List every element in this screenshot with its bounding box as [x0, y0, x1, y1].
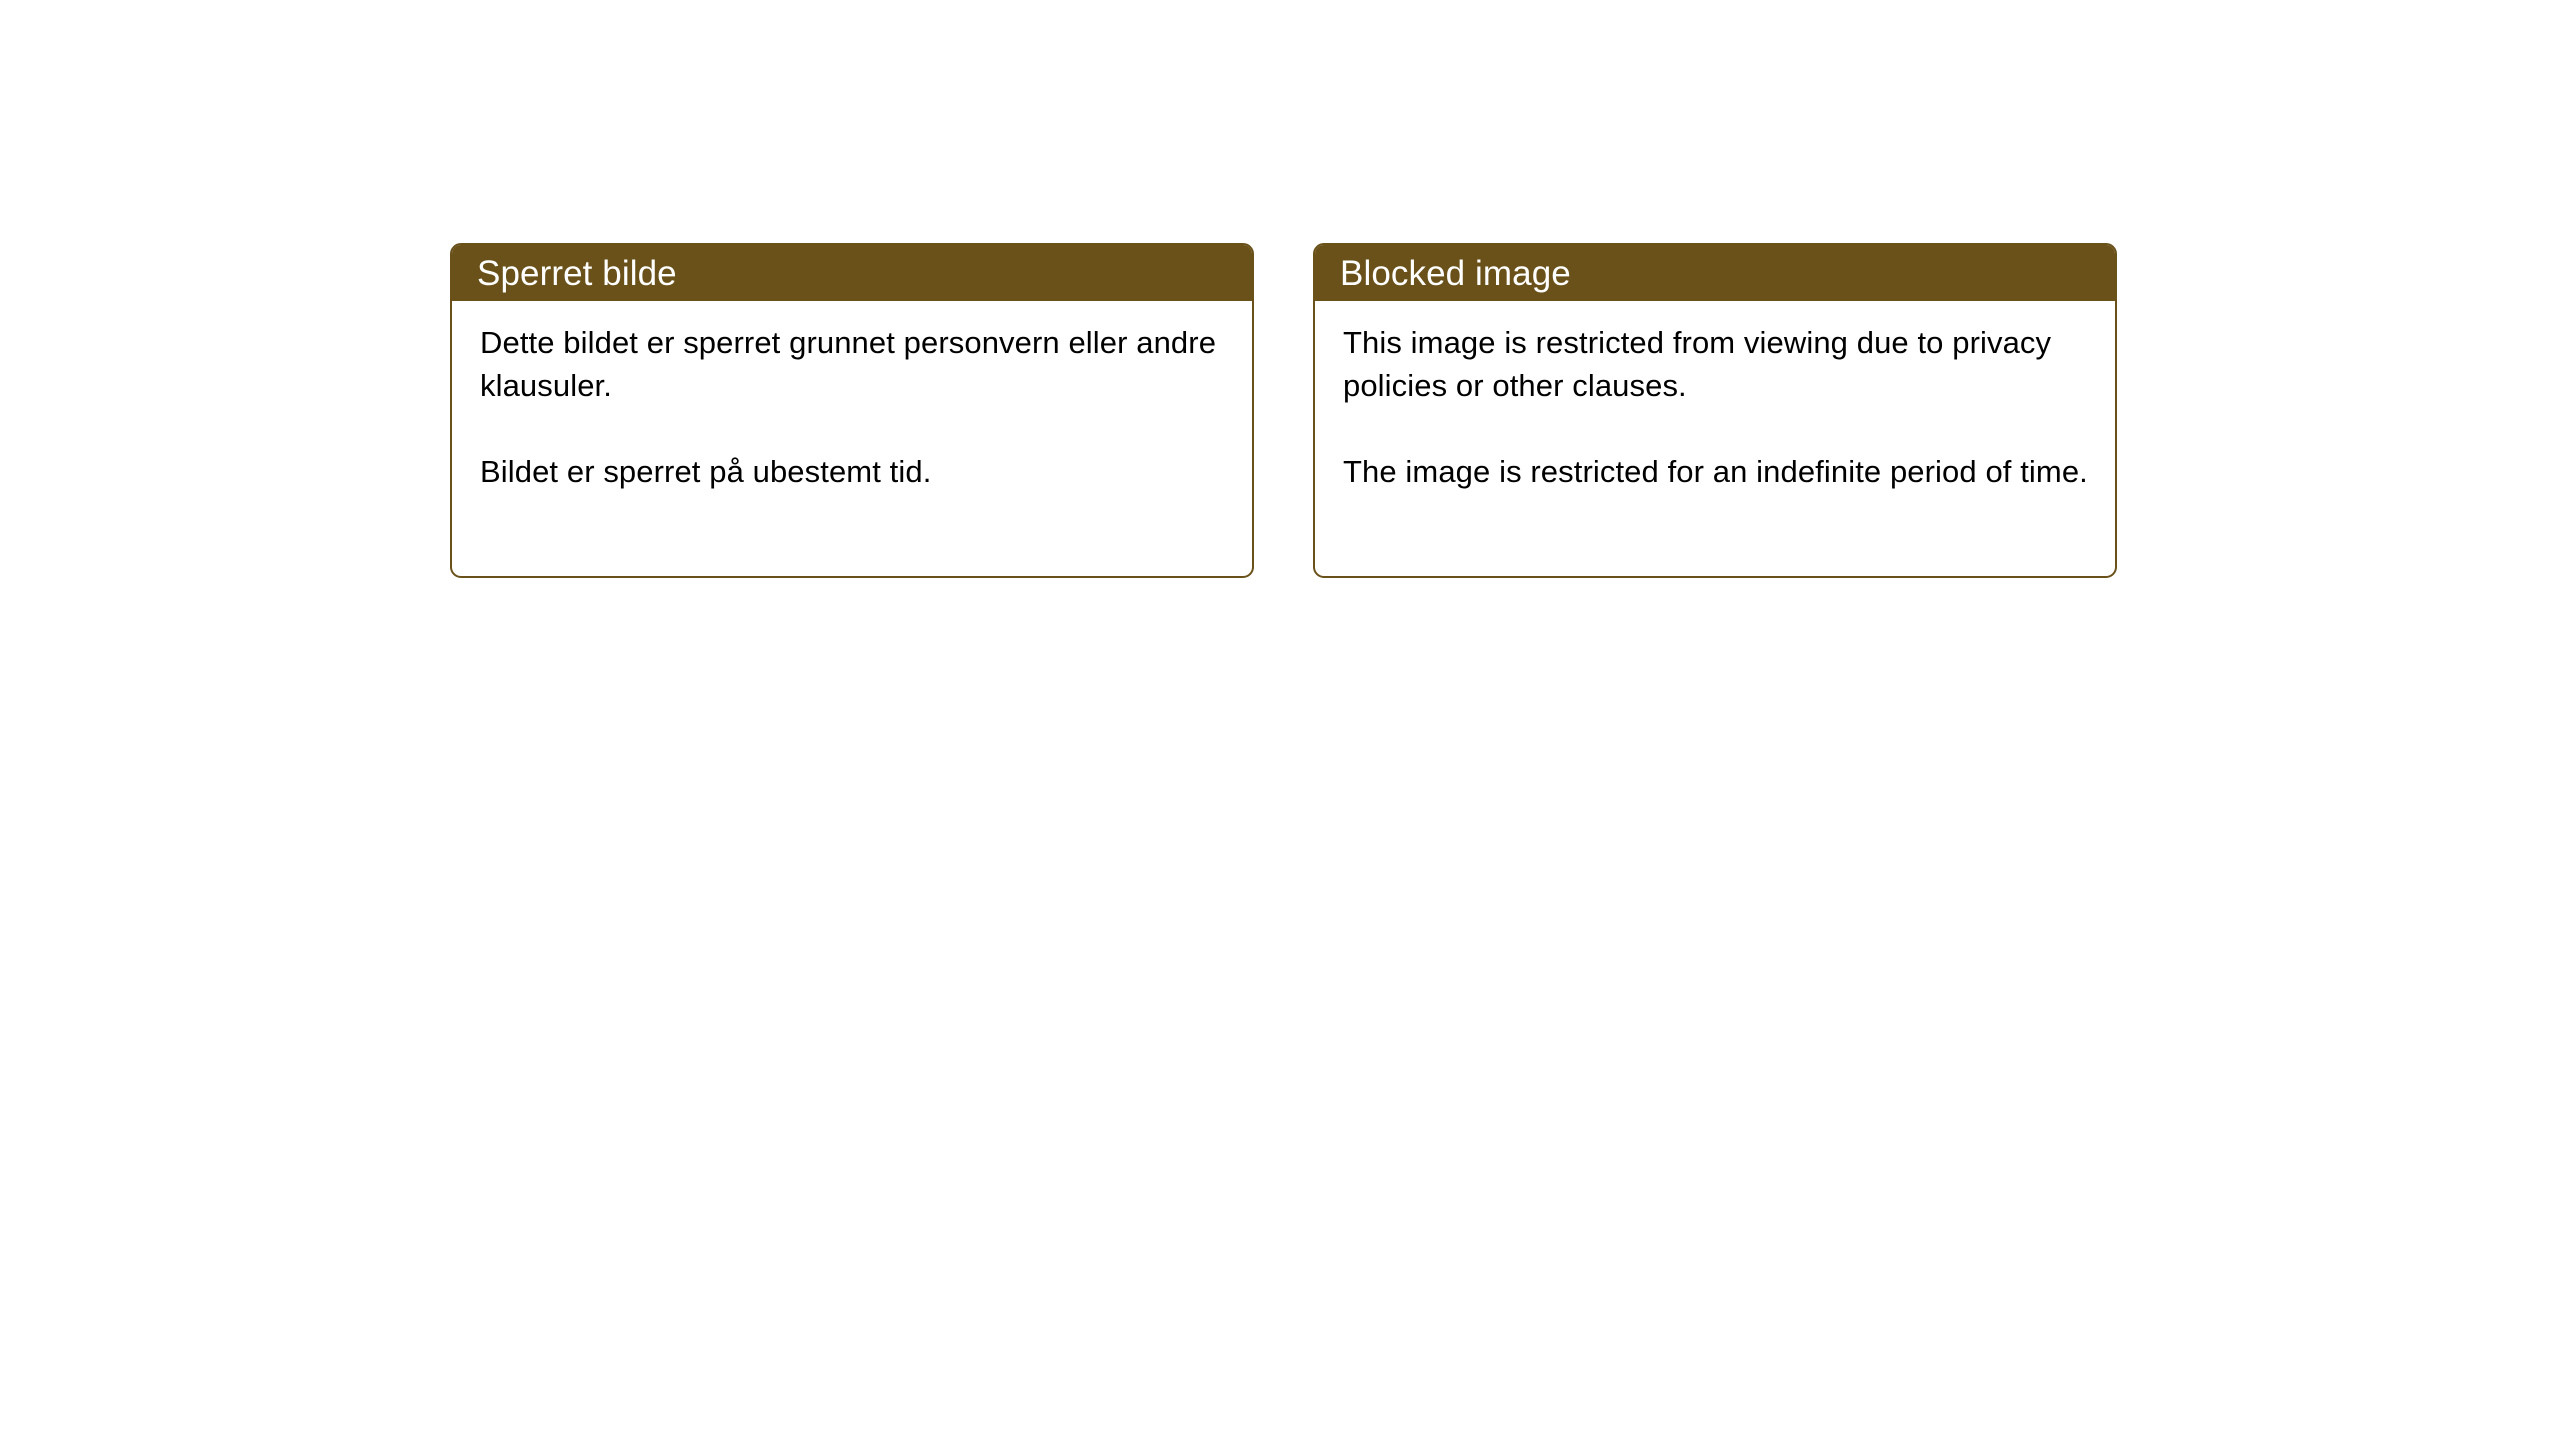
- notice-card-body-en: This image is restricted from viewing du…: [1315, 301, 2115, 493]
- notice-paragraph-reason-no: Dette bildet er sperret grunnet personve…: [480, 321, 1226, 407]
- notice-paragraph-reason-en: This image is restricted from viewing du…: [1343, 321, 2089, 407]
- blocked-image-notice-card-no: Sperret bilde Dette bildet er sperret gr…: [450, 243, 1254, 578]
- notice-stage: Sperret bilde Dette bildet er sperret gr…: [0, 0, 2560, 1440]
- notice-paragraph-duration-en: The image is restricted for an indefinit…: [1343, 450, 2089, 493]
- notice-card-body-no: Dette bildet er sperret grunnet personve…: [452, 301, 1252, 493]
- notice-card-title-no: Sperret bilde: [477, 256, 677, 291]
- blocked-image-notice-card-en: Blocked image This image is restricted f…: [1313, 243, 2117, 578]
- notice-paragraph-duration-no: Bildet er sperret på ubestemt tid.: [480, 450, 1226, 493]
- notice-card-header-en: Blocked image: [1315, 245, 2115, 301]
- notice-card-title-en: Blocked image: [1340, 256, 1571, 291]
- notice-card-header-no: Sperret bilde: [452, 245, 1252, 301]
